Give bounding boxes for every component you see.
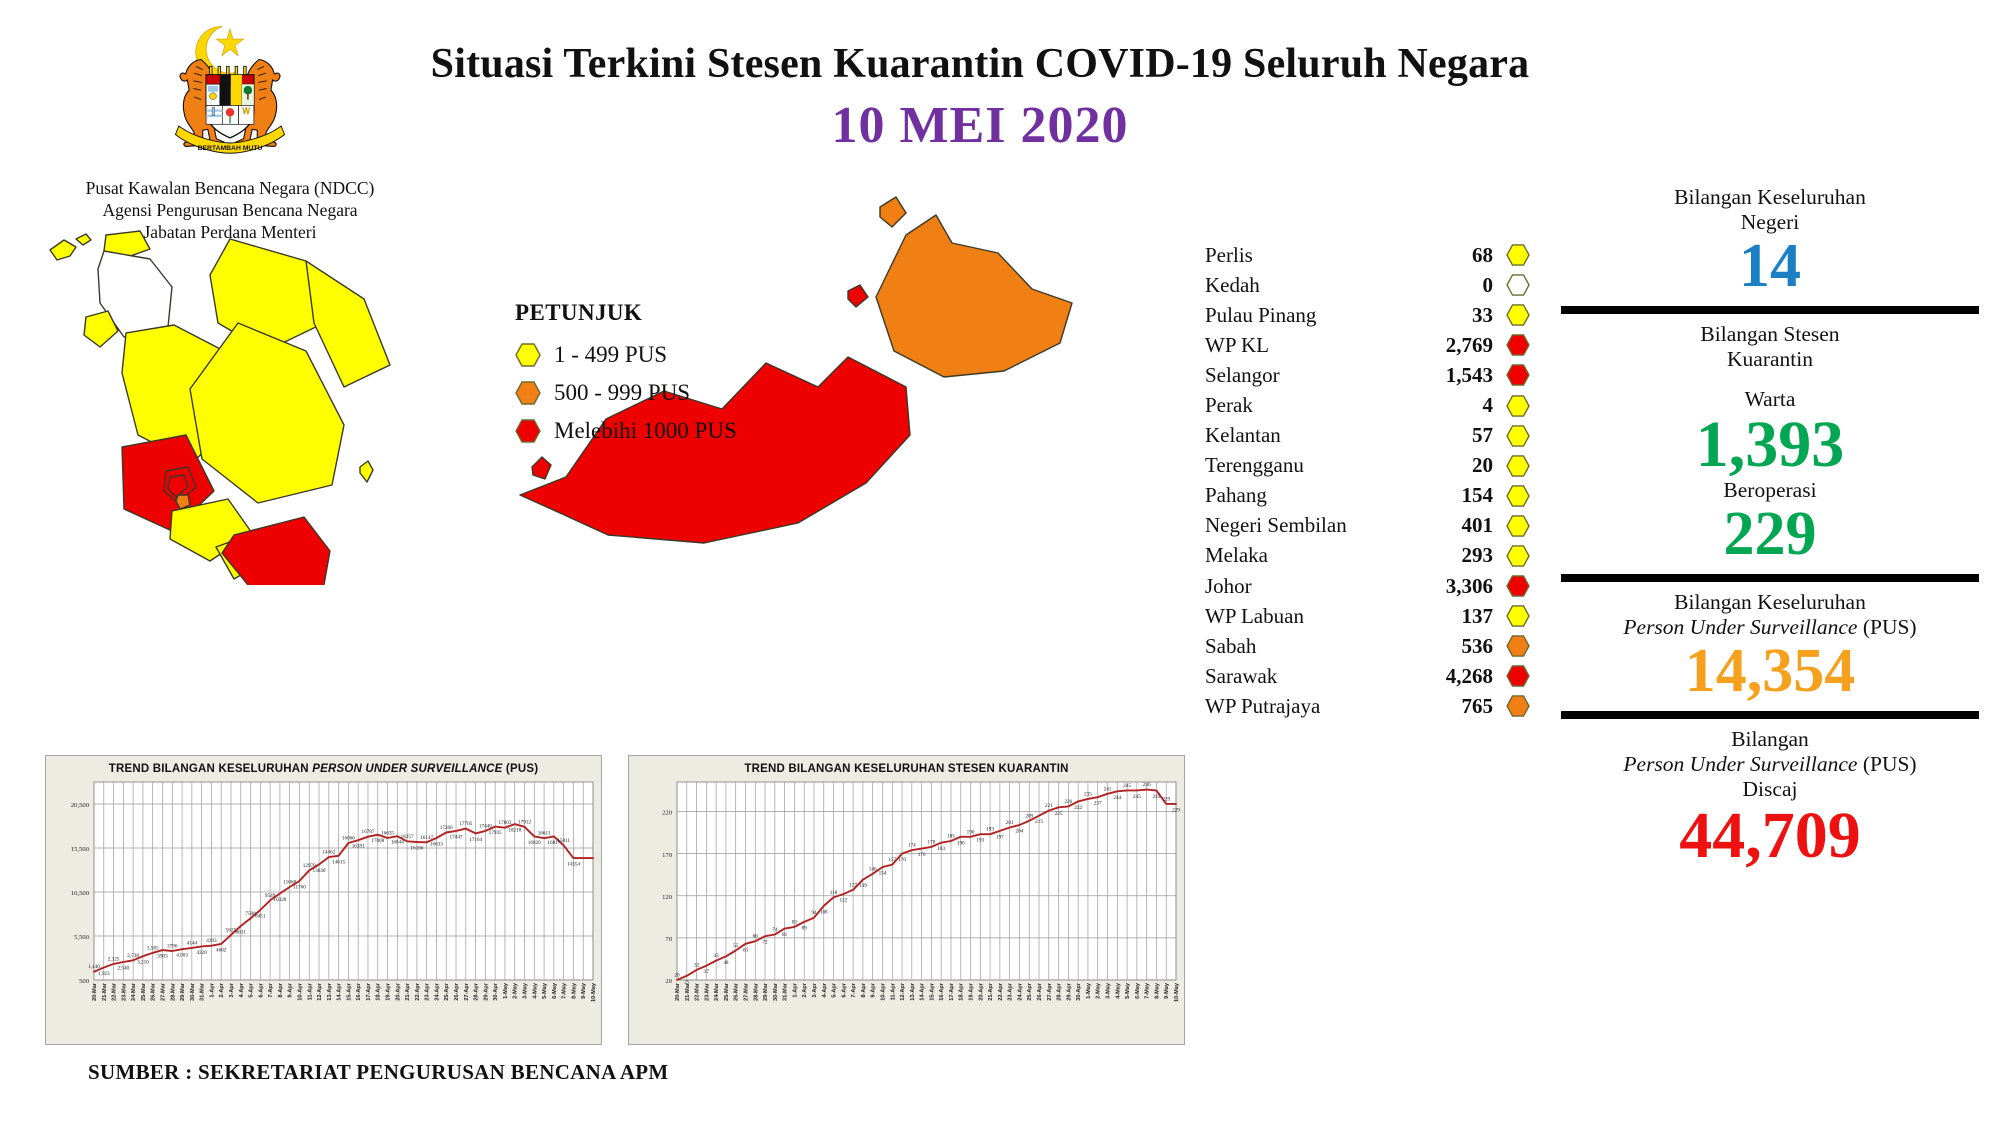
svg-text:2,325: 2,325 <box>108 956 120 962</box>
svg-text:2-Apr: 2-Apr <box>802 982 808 997</box>
svg-text:12-Apr: 12-Apr <box>900 982 906 1001</box>
svg-text:30-Mar: 30-Mar <box>190 982 196 1001</box>
hexagon-icon <box>1506 575 1530 597</box>
legend-item-3-label: Melebihi 1000 PUS <box>554 418 737 444</box>
svg-text:1,923: 1,923 <box>98 971 110 977</box>
svg-text:3,210: 3,210 <box>137 960 149 966</box>
state-value: 20 <box>1414 453 1506 478</box>
state-row: Melaka293 <box>1205 541 1530 571</box>
state-name: Terengganu <box>1205 453 1414 478</box>
stat-total-states-label: Bilangan KeseluruhanNegeri <box>1555 185 1985 235</box>
svg-text:229: 229 <box>1172 807 1180 813</box>
svg-text:16820: 16820 <box>528 840 541 846</box>
svg-text:28-Mar: 28-Mar <box>170 982 176 1001</box>
svg-text:6-Apr: 6-Apr <box>841 982 847 997</box>
svg-text:11-Apr: 11-Apr <box>890 982 896 1000</box>
state-name: Kedah <box>1205 273 1414 298</box>
svg-text:157: 157 <box>888 857 896 863</box>
state-value: 57 <box>1414 423 1506 448</box>
svg-text:20: 20 <box>665 978 672 985</box>
svg-text:22-Apr: 22-Apr <box>998 982 1004 1001</box>
svg-text:204: 204 <box>1016 828 1024 834</box>
state-name: WP KL <box>1205 333 1414 358</box>
svg-text:8-Apr: 8-Apr <box>278 982 284 997</box>
svg-text:23-Apr: 23-Apr <box>1008 982 1014 1001</box>
hexagon-icon <box>1506 425 1530 447</box>
svg-text:70: 70 <box>665 936 672 943</box>
chart-station-trend: TREND BILANGAN KESELURUHAN STESEN KUARAN… <box>628 755 1185 1045</box>
svg-text:19-Apr: 19-Apr <box>969 982 975 1001</box>
svg-text:232: 232 <box>1074 805 1082 811</box>
svg-text:122: 122 <box>839 898 847 904</box>
svg-text:9-May: 9-May <box>581 982 587 999</box>
svg-text:21-Apr: 21-Apr <box>405 982 411 1001</box>
state-row: Johor3,306 <box>1205 571 1530 601</box>
state-name: WP Putrajaya <box>1205 694 1414 719</box>
svg-text:12-Apr: 12-Apr <box>317 982 323 1001</box>
svg-text:20-Mar: 20-Mar <box>675 982 681 1001</box>
svg-text:25-Apr: 25-Apr <box>444 982 450 1001</box>
svg-text:17912: 17912 <box>518 819 531 825</box>
legend-item-2-label: 500 - 999 PUS <box>554 380 690 406</box>
state-row: Perlis68 <box>1205 240 1530 270</box>
svg-text:7-May: 7-May <box>562 982 568 999</box>
legend-item-3: Melebihi 1000 PUS <box>515 412 815 450</box>
svg-text:16391: 16391 <box>352 844 365 850</box>
hexagon-icon <box>1506 545 1530 567</box>
state-row: WP KL2,769 <box>1205 330 1530 360</box>
hexagon-icon <box>1506 515 1530 537</box>
svg-text:201: 201 <box>1006 820 1014 826</box>
stat-pus-discharged-value: 44,709 <box>1555 803 1985 869</box>
svg-text:14-Apr: 14-Apr <box>337 982 343 1001</box>
stat-quarantine-stations-label: Bilangan StesenKuarantin <box>1555 322 1985 372</box>
malaysia-coat-of-arms-icon: BERTAMBAH MUTU <box>144 22 316 172</box>
svg-text:17440: 17440 <box>479 823 492 829</box>
page-title: Situasi Terkini Stesen Kuarantin COVID-1… <box>400 40 1560 88</box>
legend-item-1: 1 - 499 PUS <box>515 336 815 374</box>
svg-text:4-May: 4-May <box>1115 982 1121 999</box>
svg-text:21-Apr: 21-Apr <box>988 982 994 1001</box>
stat-beroperasi-value: 229 <box>1555 503 1985 565</box>
svg-text:8-Apr: 8-Apr <box>861 982 867 997</box>
state-row: Pahang154 <box>1205 481 1530 511</box>
state-value: 0 <box>1414 273 1506 298</box>
svg-text:190: 190 <box>957 840 965 846</box>
state-value: 1,543 <box>1414 363 1506 388</box>
svg-text:26-Apr: 26-Apr <box>454 982 460 1001</box>
state-name: Perak <box>1205 393 1414 418</box>
svg-text:7-Apr: 7-Apr <box>851 982 857 997</box>
map-region-langkawi-2 <box>76 234 91 245</box>
stat-quarantine-stations: Bilangan StesenKuarantin Warta 1,393 Ber… <box>1555 322 1985 565</box>
svg-text:6-Apr: 6-Apr <box>258 982 264 997</box>
svg-text:120: 120 <box>662 894 673 901</box>
svg-text:11760: 11760 <box>293 884 306 890</box>
map-region-sarawak-2 <box>532 457 551 479</box>
source-footer: SUMBER : SEKRETARIAT PENGURUSAN BENCANA … <box>88 1060 669 1085</box>
state-name: Selangor <box>1205 363 1414 388</box>
svg-text:16-Apr: 16-Apr <box>939 982 945 1001</box>
stat-warta-value: 1,393 <box>1555 412 1985 478</box>
svg-text:8451: 8451 <box>255 914 266 920</box>
svg-text:3,585: 3,585 <box>147 945 159 951</box>
svg-text:197: 197 <box>996 834 1004 840</box>
hexagon-icon <box>515 381 541 405</box>
state-name: Melaka <box>1205 543 1414 568</box>
svg-text:4-May: 4-May <box>532 982 538 999</box>
svg-text:48: 48 <box>723 960 729 966</box>
svg-text:221: 221 <box>1045 803 1053 809</box>
map-region-sabah-island <box>880 197 906 227</box>
divider-1 <box>1561 306 1979 314</box>
svg-text:22-Mar: 22-Mar <box>112 982 118 1001</box>
svg-text:19-Apr: 19-Apr <box>386 982 392 1001</box>
svg-text:1-Apr: 1-Apr <box>209 982 215 997</box>
svg-text:4-Apr: 4-Apr <box>822 982 828 997</box>
state-name: Sabah <box>1205 634 1414 659</box>
svg-text:9-May: 9-May <box>1164 982 1170 999</box>
svg-text:15811: 15811 <box>557 838 570 844</box>
hexagon-icon <box>1506 364 1530 386</box>
svg-text:94: 94 <box>811 910 817 916</box>
svg-text:15-Apr: 15-Apr <box>929 982 935 1001</box>
stat-total-pus: Bilangan KeseluruhanPerson Under Surveil… <box>1555 590 1985 702</box>
svg-text:10-May: 10-May <box>591 982 597 1002</box>
svg-text:15-Apr: 15-Apr <box>346 982 352 1001</box>
svg-text:4-Apr: 4-Apr <box>239 982 245 997</box>
svg-text:25: 25 <box>684 979 690 985</box>
svg-text:226: 226 <box>1064 799 1072 805</box>
hexagon-icon <box>1506 605 1530 627</box>
hexagon-icon <box>1506 665 1530 687</box>
state-row: Negeri Sembilan401 <box>1205 511 1530 541</box>
state-name: Pulau Pinang <box>1205 303 1414 328</box>
svg-text:16633: 16633 <box>430 842 443 848</box>
title-block: Situasi Terkini Stesen Kuarantin COVID-1… <box>400 40 1560 155</box>
hexagon-icon <box>1506 485 1530 507</box>
divider-3 <box>1561 711 1979 719</box>
svg-text:23-Mar: 23-Mar <box>121 982 127 1001</box>
svg-text:4144: 4144 <box>187 940 198 946</box>
svg-text:17705: 17705 <box>459 821 472 827</box>
svg-text:190: 190 <box>967 829 975 835</box>
svg-text:13-Apr: 13-Apr <box>910 982 916 1001</box>
svg-text:25-Mar: 25-Mar <box>141 982 147 1001</box>
svg-text:18218: 18218 <box>508 828 521 834</box>
stat-total-pus-value: 14,354 <box>1555 640 1985 702</box>
svg-text:2-May: 2-May <box>1096 982 1102 999</box>
svg-text:13-Apr: 13-Apr <box>327 982 333 1001</box>
svg-text:3-Apr: 3-Apr <box>229 982 235 997</box>
svg-text:25-Apr: 25-Apr <box>1027 982 1033 1001</box>
state-name: WP Labuan <box>1205 604 1414 629</box>
svg-text:16635: 16635 <box>381 831 394 837</box>
svg-text:17-Apr: 17-Apr <box>366 982 372 1001</box>
svg-text:20: 20 <box>674 973 680 979</box>
svg-text:63: 63 <box>743 947 749 953</box>
svg-text:26-Apr: 26-Apr <box>1037 982 1043 1001</box>
svg-text:27-Mar: 27-Mar <box>160 982 166 1001</box>
hexagon-icon <box>1506 455 1530 477</box>
svg-text:127: 127 <box>849 882 857 888</box>
svg-text:193: 193 <box>986 827 994 833</box>
header: BERTAMBAH MUTU Pusat Kawalan Bencana Neg… <box>0 0 2000 210</box>
hexagon-icon <box>1506 274 1530 296</box>
summary-stats-panel: Bilangan KeseluruhanNegeri 14 Bilangan S… <box>1555 185 1985 869</box>
divider-2 <box>1561 574 1979 582</box>
hexagon-icon <box>1506 635 1530 657</box>
state-value: 4 <box>1414 393 1506 418</box>
svg-text:55: 55 <box>733 943 739 949</box>
svg-text:66: 66 <box>753 934 759 940</box>
hexagon-icon <box>1506 695 1530 717</box>
svg-text:27-Apr: 27-Apr <box>1047 982 1053 1001</box>
svg-text:9-Apr: 9-Apr <box>288 982 294 997</box>
state-value: 4,268 <box>1414 664 1506 689</box>
svg-text:20,500: 20,500 <box>71 802 90 809</box>
chart-station-trend-svg: 207012017022020-Mar21-Mar22-Mar23-Mar24-… <box>629 756 1186 1046</box>
stat-total-pus-label: Bilangan KeseluruhanPerson Under Surveil… <box>1555 590 1985 640</box>
svg-text:29-Mar: 29-Mar <box>763 982 769 1001</box>
svg-text:139: 139 <box>859 883 867 889</box>
svg-text:13630: 13630 <box>313 868 326 874</box>
state-row: WP Labuan137 <box>1205 601 1530 631</box>
state-name: Negeri Sembilan <box>1205 513 1414 538</box>
svg-text:6-May: 6-May <box>552 982 558 999</box>
svg-text:193: 193 <box>976 838 984 844</box>
legend-title: PETUNJUK <box>515 300 815 326</box>
svg-text:22-Mar: 22-Mar <box>695 982 701 1001</box>
svg-text:3-May: 3-May <box>1106 982 1112 999</box>
svg-text:24-Apr: 24-Apr <box>1017 982 1023 1001</box>
svg-text:20-Apr: 20-Apr <box>978 982 984 1001</box>
state-row: Perak4 <box>1205 390 1530 420</box>
svg-text:31-Mar: 31-Mar <box>783 982 789 1001</box>
report-date: 10 MEI 2020 <box>400 96 1560 155</box>
svg-text:183: 183 <box>937 846 945 852</box>
svg-text:16611: 16611 <box>538 831 551 837</box>
svg-text:32: 32 <box>694 962 700 968</box>
svg-text:5-Apr: 5-Apr <box>832 982 838 997</box>
svg-text:4,003: 4,003 <box>176 953 188 959</box>
svg-text:16066: 16066 <box>342 836 355 842</box>
state-name: Kelantan <box>1205 423 1414 448</box>
svg-text:215: 215 <box>1035 819 1043 825</box>
svg-text:6631: 6631 <box>236 930 247 936</box>
svg-text:245: 245 <box>1133 794 1141 800</box>
svg-text:235: 235 <box>1084 791 1092 797</box>
svg-text:16257: 16257 <box>401 834 414 840</box>
svg-text:89: 89 <box>802 925 808 931</box>
svg-text:18-Apr: 18-Apr <box>959 982 965 1001</box>
chart-pus-trend-svg: 5005,50010,50015,50020,50020-Mar21-Mar22… <box>46 756 603 1046</box>
svg-text:245: 245 <box>1123 783 1131 789</box>
state-name: Sarawak <box>1205 664 1414 689</box>
svg-text:5,500: 5,500 <box>74 934 90 941</box>
svg-text:6-May: 6-May <box>1135 982 1141 999</box>
svg-text:170: 170 <box>662 852 673 859</box>
svg-text:10-May: 10-May <box>1174 982 1180 1002</box>
svg-text:4602: 4602 <box>216 947 227 953</box>
state-name: Johor <box>1205 574 1414 599</box>
svg-text:8-May: 8-May <box>571 982 577 999</box>
state-row: Terengganu20 <box>1205 451 1530 481</box>
svg-text:17-Apr: 17-Apr <box>949 982 955 1001</box>
svg-text:30-Apr: 30-Apr <box>493 982 499 1001</box>
state-value: 293 <box>1414 543 1506 568</box>
legend-item-2: 500 - 999 PUS <box>515 374 815 412</box>
svg-text:10,500: 10,500 <box>71 890 90 897</box>
svg-text:17008: 17008 <box>371 838 384 844</box>
stat-pus-discharged: BilanganPerson Under Surveillance (PUS)D… <box>1555 727 1985 868</box>
svg-text:72: 72 <box>762 940 768 946</box>
svg-text:154: 154 <box>879 871 887 877</box>
svg-text:3-Apr: 3-Apr <box>812 982 818 997</box>
svg-text:14354: 14354 <box>567 862 580 868</box>
svg-text:11-Apr: 11-Apr <box>307 982 313 1000</box>
svg-text:31-Mar: 31-Mar <box>200 982 206 1001</box>
svg-text:244: 244 <box>1113 795 1121 801</box>
svg-text:83: 83 <box>792 919 798 925</box>
svg-text:209: 209 <box>1025 813 1033 819</box>
svg-text:2,738: 2,738 <box>127 953 139 959</box>
svg-text:16186: 16186 <box>410 845 423 851</box>
stat-total-states-value: 14 <box>1555 235 1985 297</box>
svg-text:17447: 17447 <box>450 834 463 840</box>
svg-text:220: 220 <box>662 810 673 817</box>
state-row: Kelantan57 <box>1205 421 1530 451</box>
hexagon-icon <box>1506 395 1530 417</box>
svg-text:245: 245 <box>1153 794 1161 800</box>
svg-text:225: 225 <box>1055 811 1063 817</box>
state-row: Sarawak4,268 <box>1205 661 1530 691</box>
svg-text:185: 185 <box>947 833 955 839</box>
svg-text:10-Apr: 10-Apr <box>880 982 886 1001</box>
state-row: Sabah536 <box>1205 631 1530 661</box>
state-value: 401 <box>1414 513 1506 538</box>
svg-text:20-Apr: 20-Apr <box>395 982 401 1001</box>
state-value: 137 <box>1414 604 1506 629</box>
hexagon-icon <box>1506 304 1530 326</box>
svg-text:8-May: 8-May <box>1154 982 1160 999</box>
svg-text:30-Mar: 30-Mar <box>773 982 779 1001</box>
svg-text:81: 81 <box>782 932 788 938</box>
stat-total-states: Bilangan KeseluruhanNegeri 14 <box>1555 185 1985 297</box>
svg-text:29-Mar: 29-Mar <box>180 982 186 1001</box>
svg-text:21-Mar: 21-Mar <box>102 982 108 1001</box>
state-value: 765 <box>1414 694 1506 719</box>
legend-item-1-label: 1 - 499 PUS <box>554 342 667 368</box>
state-value: 154 <box>1414 483 1506 508</box>
svg-text:18-Apr: 18-Apr <box>376 982 382 1001</box>
svg-text:26-Mar: 26-Mar <box>151 982 157 1001</box>
svg-text:7-May: 7-May <box>1145 982 1151 999</box>
svg-text:30-Apr: 30-Apr <box>1076 982 1082 1001</box>
legend: PETUNJUK 1 - 499 PUS 500 - 999 PUS Meleb… <box>515 300 815 450</box>
stat-pus-discharged-label: BilanganPerson Under Surveillance (PUS)D… <box>1555 727 1985 802</box>
state-value: 536 <box>1414 634 1506 659</box>
svg-text:2-Apr: 2-Apr <box>219 982 225 997</box>
svg-text:241: 241 <box>1104 786 1112 792</box>
svg-text:176: 176 <box>918 852 926 858</box>
svg-text:43: 43 <box>714 953 720 959</box>
hexagon-icon <box>1506 334 1530 356</box>
svg-text:26-Mar: 26-Mar <box>734 982 740 1001</box>
hexagon-icon <box>515 419 541 443</box>
svg-text:1-May: 1-May <box>503 982 509 999</box>
svg-text:28-Apr: 28-Apr <box>474 982 480 1001</box>
svg-text:3903: 3903 <box>157 954 168 960</box>
svg-text:37: 37 <box>704 969 710 975</box>
svg-text:27-Apr: 27-Apr <box>464 982 470 1001</box>
svg-text:3-May: 3-May <box>523 982 529 999</box>
map-region-langkawi <box>50 240 76 260</box>
svg-text:1-Apr: 1-Apr <box>792 982 798 997</box>
map-region-tioman <box>360 461 373 482</box>
map-region-sabah <box>876 215 1072 377</box>
svg-text:22-Apr: 22-Apr <box>415 982 421 1001</box>
svg-text:15,500: 15,500 <box>71 846 90 853</box>
map-region-wp-labuan <box>848 285 868 307</box>
state-name: Pahang <box>1205 483 1414 508</box>
svg-text:17266: 17266 <box>440 825 453 831</box>
hexagon-icon <box>515 343 541 367</box>
svg-text:1,440: 1,440 <box>88 964 100 970</box>
state-value: 2,769 <box>1414 333 1506 358</box>
state-value: 3,306 <box>1414 574 1506 599</box>
svg-text:178: 178 <box>928 839 936 845</box>
svg-text:23-Mar: 23-Mar <box>704 982 710 1001</box>
svg-text:29-Apr: 29-Apr <box>483 982 489 1001</box>
svg-text:108: 108 <box>820 909 828 915</box>
svg-text:16844: 16844 <box>391 840 404 846</box>
svg-text:174: 174 <box>908 843 916 849</box>
chart-pus-trend: TREND BILANGAN KESELURUHAN PERSON UNDER … <box>45 755 602 1045</box>
state-value: 68 <box>1414 243 1506 268</box>
svg-text:14-Apr: 14-Apr <box>920 982 926 1001</box>
state-row: WP Putrajaya765 <box>1205 691 1530 721</box>
svg-text:24-Apr: 24-Apr <box>434 982 440 1001</box>
svg-text:14615: 14615 <box>332 859 345 865</box>
svg-text:16787: 16787 <box>361 829 374 835</box>
svg-text:7-Apr: 7-Apr <box>268 982 274 997</box>
svg-text:17935: 17935 <box>489 830 502 836</box>
svg-text:17803: 17803 <box>498 820 511 826</box>
svg-text:24-Mar: 24-Mar <box>714 982 720 1001</box>
svg-text:4393: 4393 <box>206 938 217 944</box>
state-name: Perlis <box>1205 243 1414 268</box>
svg-text:BERTAMBAH MUTU: BERTAMBAH MUTU <box>198 145 263 152</box>
svg-text:16147: 16147 <box>420 835 433 841</box>
svg-text:5-May: 5-May <box>1125 982 1131 999</box>
svg-text:5-Apr: 5-Apr <box>249 982 255 997</box>
svg-text:16-Apr: 16-Apr <box>356 982 362 1001</box>
state-row: Pulau Pinang33 <box>1205 300 1530 330</box>
svg-text:74: 74 <box>772 927 778 933</box>
svg-text:29-Apr: 29-Apr <box>1066 982 1072 1001</box>
svg-text:2-May: 2-May <box>513 982 519 999</box>
svg-text:25-Mar: 25-Mar <box>724 982 730 1001</box>
svg-text:4320: 4320 <box>196 950 207 956</box>
svg-text:10-Apr: 10-Apr <box>297 982 303 1001</box>
state-value: 33 <box>1414 303 1506 328</box>
svg-text:229: 229 <box>1162 796 1170 802</box>
svg-text:17164: 17164 <box>469 837 482 843</box>
svg-text:28-Apr: 28-Apr <box>1057 982 1063 1001</box>
svg-text:27-Mar: 27-Mar <box>743 982 749 1001</box>
svg-text:500: 500 <box>79 978 90 985</box>
